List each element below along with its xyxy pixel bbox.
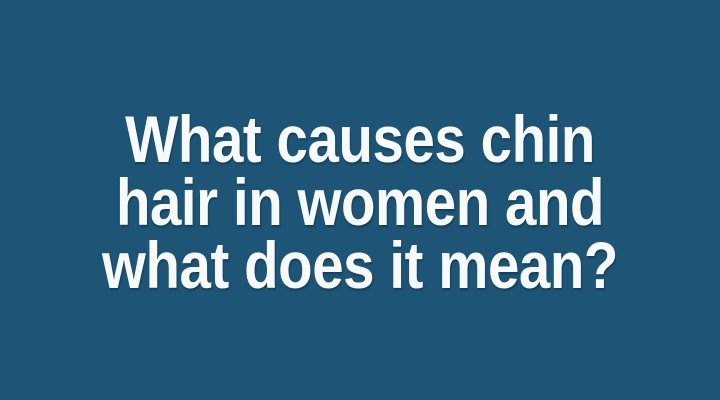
headline-line-2: hair in women and <box>52 171 668 234</box>
image-canvas: What causes chin hair in women and what … <box>0 0 720 400</box>
headline-line-1: What causes chin <box>52 108 668 171</box>
headline-block: What causes chin hair in women and what … <box>0 104 720 297</box>
headline-line-3: what does it mean? <box>52 234 668 297</box>
